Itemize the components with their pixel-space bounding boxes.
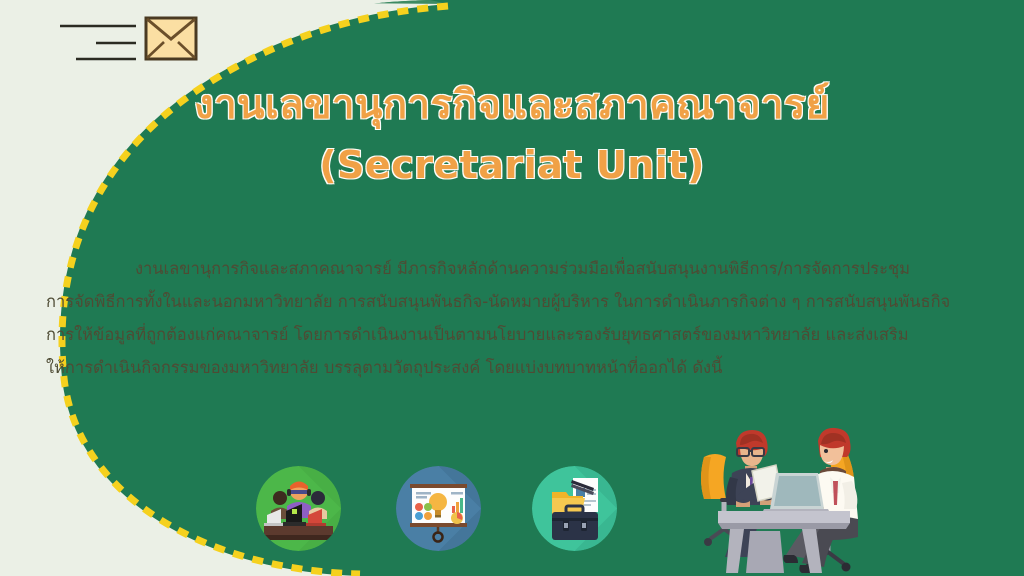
- body-line: การจัดพิธีการทั้งในและนอกมหาวิทยาลัย การ…: [46, 285, 981, 318]
- body-paragraph: งานเลขานุการกิจและสภาคณาจารย์ มีภารกิจหล…: [46, 252, 981, 384]
- body-line: ให้การดำเนินกิจกรรมของมหาวิทยาลัย บรรลุต…: [46, 351, 981, 384]
- body-line: งานเลขานุการกิจและสภาคณาจารย์ มีภารกิจหล…: [46, 252, 981, 285]
- business-meeting-illustration: [690, 415, 960, 576]
- slide-canvas: งานเลขานุการกิจและสภาคณาจารย์ (Secretari…: [0, 0, 1024, 576]
- title-english: (Secretariat Unit): [0, 138, 1024, 192]
- title-thai: งานเลขานุการกิจและสภาคณาจารย์: [0, 78, 1024, 132]
- page-title: งานเลขานุการกิจและสภาคณาจารย์ (Secretari…: [0, 78, 1024, 192]
- team-laptops-icon: [256, 466, 341, 551]
- presentation-board-icon: [396, 466, 481, 551]
- envelope-icon: [146, 18, 196, 59]
- body-line: การให้ข้อมูลที่ถูกต้องแก่คณาจารย์ โดยการ…: [46, 318, 981, 351]
- briefcase-documents-icon: [532, 466, 617, 551]
- envelope-mark: [58, 10, 198, 76]
